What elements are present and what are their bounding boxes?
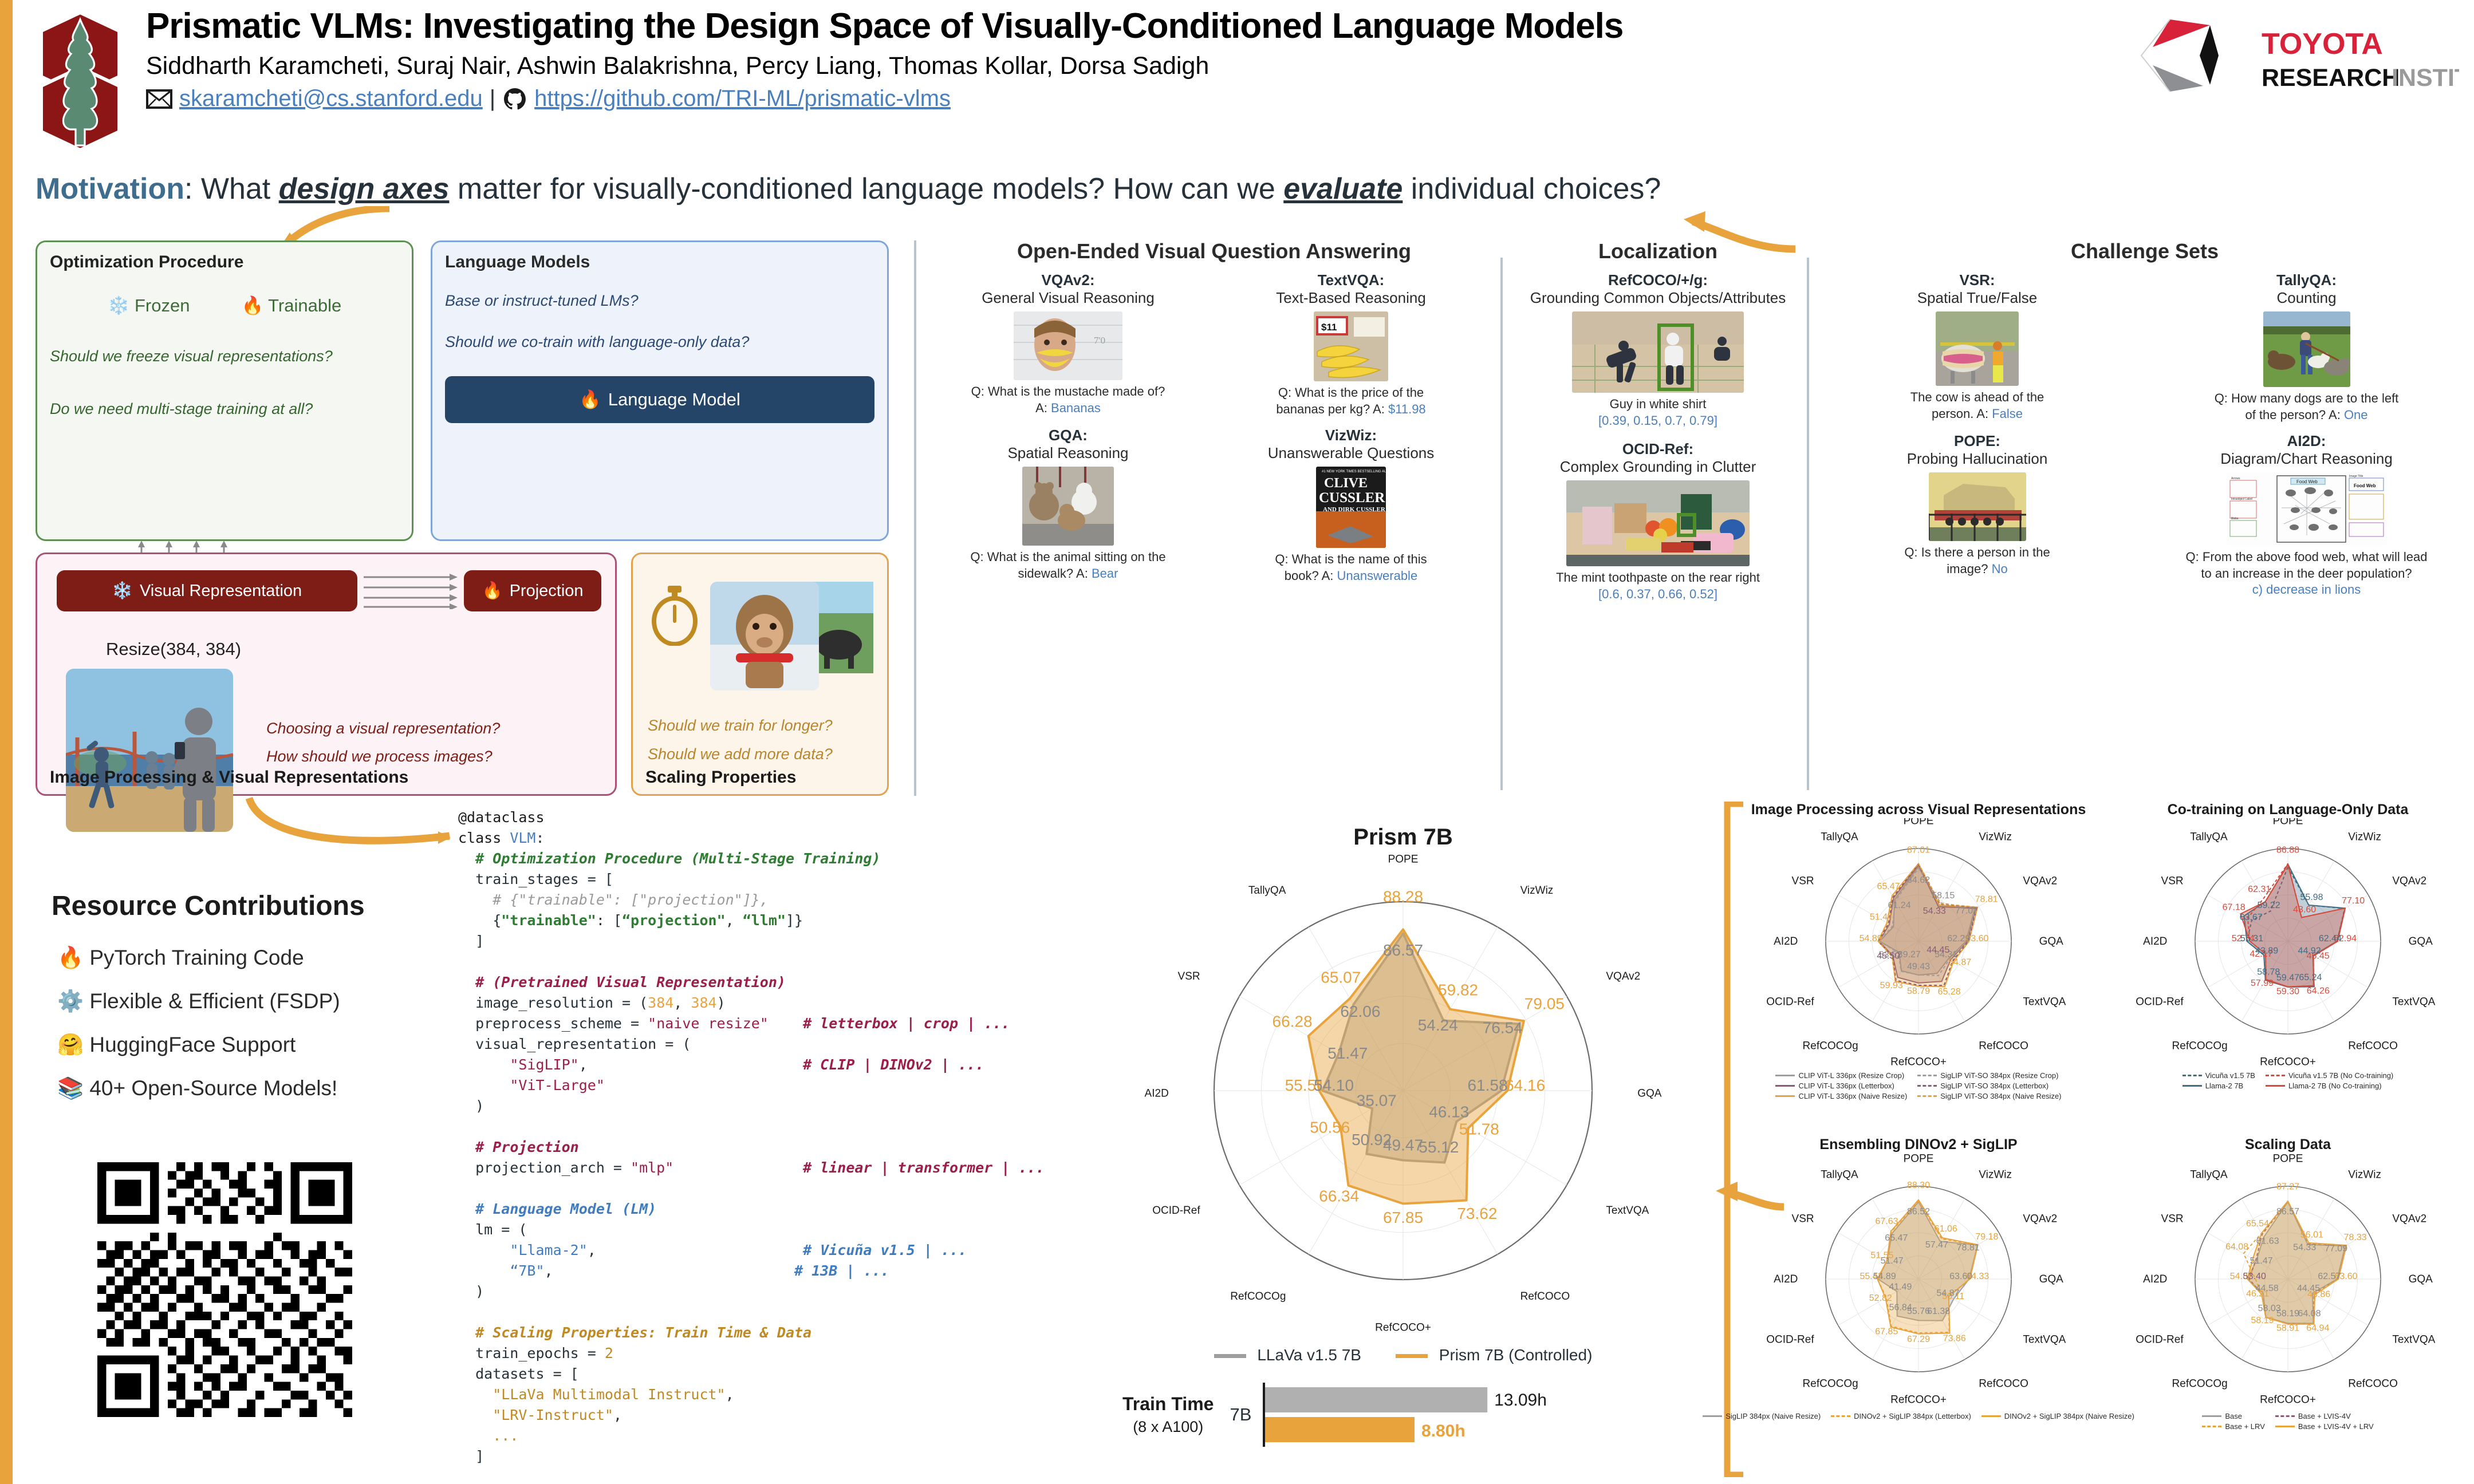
chart-legend: Vicuña v1.5 7B Vicuña v1.5 7B (No Co-tra…	[2107, 1071, 2468, 1090]
fire-icon: 🔥	[241, 295, 263, 315]
svg-text:VizWiz: VizWiz	[1979, 831, 2012, 843]
dataset-card-tallyqa: TallyQA: Counting Q: How many dogs are t…	[2148, 271, 2465, 423]
svg-text:58.03: 58.03	[2258, 1304, 2281, 1313]
question-text-2: bananas per kg? A:	[1276, 402, 1388, 416]
bbox-coords: [0.39, 0.15, 0.7, 0.79]	[1598, 413, 1717, 428]
dataset-name: TextVQA:	[1216, 271, 1486, 289]
mini-chart-co-training: Co-training on Language-Only Data POPEVi…	[2107, 802, 2468, 1134]
dataset-subtitle: Diagram/Chart Reasoning	[2148, 450, 2465, 468]
svg-text:RefCOCO: RefCOCO	[1979, 1378, 2028, 1390]
svg-text:Image Title: Image Title	[2349, 475, 2363, 478]
contact-separator: |	[490, 86, 495, 112]
svg-text:88.30: 88.30	[1907, 1181, 1930, 1190]
dataset-name: OCID-Ref:	[1512, 440, 1804, 458]
tri-institute-text: INSTITUTE	[2392, 64, 2459, 92]
svg-text:TallyQA: TallyQA	[2190, 831, 2228, 843]
email-link[interactable]: skaramcheti@cs.stanford.edu	[179, 86, 483, 112]
poster-header: Prismatic VLMs: Investigating the Design…	[34, 5, 2463, 159]
list-item: ⚙️ Flexible & Efficient (FSDP)	[57, 980, 340, 1023]
legend-label: DINOv2 + SigLIP 384px (Letterbox)	[1854, 1412, 1971, 1420]
legend-item-llava: LLaVa v1.5 7B	[1214, 1346, 1361, 1364]
github-link[interactable]: https://github.com/TRI-ML/prismatic-vlms	[534, 86, 951, 112]
svg-text:VizWiz: VizWiz	[1979, 1169, 2012, 1181]
svg-text:AI2D: AI2D	[1774, 936, 1798, 948]
chart-title: Image Processing across Visual Represent…	[1741, 802, 2096, 818]
visual-to-projection-arrows	[364, 574, 460, 609]
list-item: 🤗 HuggingFace Support	[57, 1023, 340, 1067]
list-item: 📚 40+ Open-Source Models!	[57, 1067, 340, 1110]
svg-text:55.12: 55.12	[1419, 1138, 1459, 1156]
dataset-subtitle: General Visual Reasoning	[933, 289, 1203, 307]
svg-text:RefCOCO: RefCOCO	[1520, 1290, 1570, 1303]
svg-text:POPE: POPE	[1388, 853, 1419, 865]
svg-text:56.01: 56.01	[2300, 1230, 2323, 1240]
svg-text:CUSSLER: CUSSLER	[1319, 490, 1385, 506]
dataset-subtitle: Probing Hallucination	[1818, 450, 2136, 468]
dataset-subtitle: Grounding Common Objects/Attributes	[1512, 289, 1804, 307]
svg-text:VSR: VSR	[2161, 875, 2184, 887]
svg-text:59.93: 59.93	[1880, 981, 1903, 990]
dataset-subtitle: Counting	[2148, 289, 2465, 307]
chart-title: Co-training on Language-Only Data	[2107, 802, 2468, 818]
legend-label: SigLIP ViT-SO 384px (Naive Resize)	[1940, 1092, 2061, 1100]
svg-text:GQA: GQA	[2409, 936, 2433, 948]
email-icon	[146, 89, 172, 109]
svg-text:GQA: GQA	[2409, 1273, 2433, 1285]
svg-text:79.18: 79.18	[1975, 1232, 1998, 1242]
snowflake-icon: ❄️	[108, 295, 130, 315]
chart-title: Prism 7B	[1088, 824, 1718, 850]
svg-text:77.10: 77.10	[2342, 896, 2365, 906]
dataset-name: RefCOCO/+/g:	[1512, 271, 1804, 289]
svg-text:54.33: 54.33	[2293, 1242, 2316, 1252]
question-text-2: image?	[1947, 562, 1991, 576]
svg-text:Food Web: Food Web	[2354, 483, 2376, 488]
fire-icon: 🔥	[579, 389, 601, 410]
question-text-2: book? A:	[1285, 569, 1337, 583]
svg-text:VizWiz: VizWiz	[2348, 831, 2381, 843]
svg-text:TallyQA: TallyQA	[1821, 1169, 1858, 1181]
svg-text:58.15: 58.15	[1932, 891, 1955, 901]
gqa-photo	[1022, 467, 1114, 546]
author-list: Siddharth Karamcheti, Suraj Nair, Ashwin…	[146, 52, 2139, 80]
dataset-name: POPE:	[1818, 432, 2136, 450]
svg-text:RefCOCOg: RefCOCOg	[1230, 1290, 1286, 1303]
question-text: Q: What is the mustache made of?	[971, 384, 1165, 398]
svg-text:67.29: 67.29	[1907, 1335, 1930, 1344]
resource-contributions-list: 🔥 PyTorch Training Code ⚙️ Flexible & Ef…	[57, 936, 340, 1110]
svg-text:AI2D: AI2D	[1774, 1273, 1798, 1285]
svg-text:OCID-Ref: OCID-Ref	[1766, 996, 1814, 1008]
svg-text:CLIVE: CLIVE	[1324, 476, 1368, 491]
vsr-qa: The cow is ahead of the person. A: False	[1818, 389, 2136, 422]
legend-label: SigLIP ViT-SO 384px (Resize Crop)	[1940, 1071, 2058, 1080]
motivation-emphasis-design-axes: design axes	[279, 172, 450, 206]
svg-text:67.85: 67.85	[1383, 1209, 1423, 1226]
motivation-statement: Motivation: What design axes matter for …	[36, 172, 1661, 206]
train-time-subtitle: (8 x A100)	[1133, 1418, 1203, 1435]
tri-toyota-text: TOYOTA	[2262, 27, 2383, 61]
svg-text:8.80h: 8.80h	[1421, 1422, 1466, 1440]
svg-text:84.62: 84.62	[1907, 875, 1930, 885]
svg-text:63.60: 63.60	[1949, 1272, 1972, 1281]
divider-right	[1807, 258, 1809, 790]
resource-label: PyTorch Training Code	[89, 946, 304, 969]
svg-text:55.31: 55.31	[2240, 934, 2263, 944]
train-time-bar-chart: Train Time (8 x A100) 7B 13.09h 8.80h	[1088, 1380, 1718, 1449]
svg-text:RefCOCOg: RefCOCOg	[1803, 1040, 1858, 1052]
svg-text:35.07: 35.07	[1357, 1092, 1397, 1110]
legend-label: Base	[2225, 1412, 2242, 1420]
svg-text:50.92: 50.92	[1352, 1131, 1392, 1148]
hugging-face-icon: 🤗	[57, 1033, 84, 1056]
svg-text:62.57: 62.57	[2318, 1272, 2341, 1281]
train-time-label: Train Time (8 x A100)	[1122, 1393, 1214, 1437]
svg-text:POPE: POPE	[1904, 1153, 1934, 1165]
dataset-card-vizwiz: VizWiz: Unanswerable Questions #1 NEW YO…	[1216, 427, 1486, 584]
svg-text:VQAv2: VQAv2	[2023, 1213, 2057, 1225]
answer-text: Bear	[1092, 566, 1118, 581]
svg-text:58.19: 58.19	[2251, 1316, 2274, 1325]
svg-text:58.79: 58.79	[1907, 986, 1930, 996]
svg-text:64.94: 64.94	[2306, 1324, 2329, 1333]
language-models-box-title: Language Models	[445, 252, 874, 272]
svg-text:86.57: 86.57	[1383, 941, 1423, 959]
legend-label: Vicuña v1.5 7B	[2205, 1071, 2255, 1080]
svg-text:#1 NEW YORK TIMES BESTSELLING: #1 NEW YORK TIMES BESTSELLING AUTHOR	[1322, 470, 1386, 473]
svg-text:79.05: 79.05	[1524, 995, 1565, 1013]
answer-text: c) decrease in lions	[2252, 582, 2361, 597]
answer-text: Unanswerable	[1337, 569, 1418, 583]
projection-block: 🔥 Projection	[464, 570, 601, 611]
legend-label: SigLIP 384px (Naive Resize)	[1726, 1412, 1821, 1420]
svg-text:65.47: 65.47	[1877, 882, 1900, 891]
svg-text:$11: $11	[1321, 322, 1337, 333]
chart-legend: Base Base + LVIS-4V Base + LRV Base + LV…	[2107, 1412, 2468, 1431]
legend-label: SigLIP ViT-SO 384px (Letterbox)	[1940, 1082, 2048, 1090]
optimization-box-title: Optimization Procedure	[50, 252, 399, 272]
svg-text:86.88: 86.88	[2276, 846, 2299, 855]
svg-text:Intraobject Label: Intraobject Label	[2231, 498, 2252, 501]
svg-text:RefCOCO: RefCOCO	[2348, 1378, 2398, 1390]
github-icon	[502, 86, 527, 112]
image-question-2: How should we process images?	[266, 743, 500, 771]
chart-legend: SigLIP 384px (Naive Resize) DINOv2 + Sig…	[1741, 1412, 2096, 1420]
stanford-logo	[34, 10, 126, 153]
svg-text:41.49: 41.49	[1889, 1282, 1912, 1292]
svg-text:Arrows: Arrows	[2231, 477, 2240, 480]
dataset-subtitle: Spatial Reasoning	[933, 444, 1203, 462]
svg-text:VQAv2: VQAv2	[2392, 1213, 2426, 1225]
dataset-name: VizWiz:	[1216, 427, 1486, 444]
svg-text:TextVQA: TextVQA	[2023, 996, 2066, 1008]
optimization-question-1: Should we freeze visual representations?	[50, 345, 399, 369]
referring-expression: Guy in white shirt	[1610, 397, 1707, 411]
legend-item-prism: Prism 7B (Controlled)	[1396, 1346, 1592, 1364]
pope-qa: Q: Is there a person in the image? No	[1818, 544, 2136, 577]
ocidref-qa: The mint toothpaste on the rear right [0…	[1512, 570, 1804, 602]
legend-label: Llama-2 7B	[2205, 1082, 2243, 1090]
svg-text:RefCOCOg: RefCOCOg	[1803, 1378, 1858, 1390]
radar-svg-main: POPEVizWizVQAv2GQATextVQARefCOCORefCOCO+…	[1088, 850, 1718, 1343]
question-text-2: of the person? A:	[2245, 408, 2343, 422]
question-text: Q: Is there a person in the	[1904, 545, 2050, 559]
language-model-block: 🔥 Language Model	[445, 376, 874, 423]
motivation-colon: :	[184, 172, 201, 206]
dataset-subtitle: Spatial True/False	[1818, 289, 2136, 307]
svg-text:45.50: 45.50	[1877, 951, 1900, 961]
svg-text:TextVQA: TextVQA	[1606, 1205, 1649, 1217]
snowflake-icon: ❄️	[112, 581, 133, 601]
legend-label: LLaVa v1.5 7B	[1257, 1346, 1361, 1364]
svg-text:46.13: 46.13	[1429, 1103, 1469, 1120]
question-text: The cow is ahead of the	[1910, 390, 2044, 404]
svg-text:TextVQA: TextVQA	[2392, 1333, 2435, 1345]
dataset-card-pope: POPE: Probing Hallucination Q: Is there …	[1818, 432, 2136, 598]
textvqa-photo: $11	[1314, 311, 1388, 381]
svg-text:65.54: 65.54	[2246, 1219, 2269, 1229]
svg-text:44.45: 44.45	[2297, 1284, 2320, 1293]
list-item: 🔥 PyTorch Training Code	[57, 936, 340, 980]
gqa-qa: Q: What is the animal sitting on the sid…	[933, 549, 1203, 582]
svg-text:58.78: 58.78	[2257, 967, 2280, 977]
projection-label: Projection	[510, 582, 584, 601]
svg-text:54.87: 54.87	[1936, 1289, 1959, 1298]
svg-text:51.47: 51.47	[1327, 1044, 1368, 1062]
svg-text:76.54: 76.54	[1483, 1019, 1523, 1037]
image-processing-box: ❄️ Visual Representation 🔥 Projection Re…	[36, 552, 617, 796]
svg-text:53.40: 53.40	[2243, 1272, 2266, 1281]
svg-text:POPE: POPE	[2273, 1153, 2303, 1165]
svg-text:VizWiz: VizWiz	[2348, 1169, 2381, 1181]
ai2d-photo: Food Web	[2227, 472, 2387, 546]
question-text: Q: From the above food web, what will le…	[2186, 550, 2428, 564]
svg-text:VizWiz: VizWiz	[1520, 885, 1554, 897]
textvqa-qa: Q: What is the price of the bananas per …	[1216, 385, 1486, 417]
motivation-part3: individual choices?	[1403, 172, 1661, 206]
vizwiz-qa: Q: What is the name of this book? A: Una…	[1216, 551, 1486, 584]
answer-text: Bananas	[1051, 401, 1101, 415]
svg-text:VSR: VSR	[1178, 970, 1200, 982]
question-text: Q: How many dogs are to the left	[2215, 391, 2399, 405]
books-icon: 📚	[57, 1076, 84, 1100]
dataset-name: TallyQA:	[2148, 271, 2465, 289]
svg-text:VQAv2: VQAv2	[2023, 875, 2057, 887]
svg-text:RefCOCOg: RefCOCOg	[2172, 1378, 2228, 1390]
vizwiz-photo: #1 NEW YORK TIMES BESTSELLING AUTHOR CLI…	[1316, 467, 1386, 548]
svg-text:73.86: 73.86	[1943, 1334, 1966, 1344]
svg-text:61.06: 61.06	[1935, 1224, 1957, 1234]
svg-text:67.85: 67.85	[1875, 1327, 1898, 1337]
answer-text: No	[1992, 562, 2008, 576]
dataset-card-ocidref: OCID-Ref: Complex Grounding in Clutter T…	[1512, 440, 1804, 602]
dataset-subtitle: Unanswerable Questions	[1216, 444, 1486, 462]
svg-text:78.81: 78.81	[1975, 895, 1998, 905]
tallyqa-photo	[2263, 311, 2350, 387]
svg-text:59.30: 59.30	[2276, 986, 2299, 996]
svg-text:AI2D: AI2D	[1145, 1088, 1169, 1100]
svg-text:56.84: 56.84	[1889, 1303, 1912, 1312]
lm-question-1: Base or instruct-tuned LMs?	[445, 289, 874, 313]
svg-text:OCID-Ref: OCID-Ref	[2136, 1333, 2184, 1345]
svg-text:78.33: 78.33	[2344, 1233, 2367, 1242]
dataset-card-vsr: VSR: Spatial True/False The cow is ahead…	[1818, 271, 2136, 423]
svg-text:OCID-Ref: OCID-Ref	[1766, 1333, 1814, 1345]
refcoco-qa: Guy in white shirt [0.39, 0.15, 0.7, 0.7…	[1512, 396, 1804, 429]
scaling-question-2: Should we add more data?	[648, 740, 833, 769]
dataset-name: GQA:	[933, 427, 1203, 444]
svg-text:61.24: 61.24	[1888, 901, 1911, 910]
svg-text:51.78: 51.78	[1459, 1120, 1499, 1138]
svg-text:78.81: 78.81	[1957, 1243, 1980, 1253]
dataset-name: VSR:	[1818, 271, 2136, 289]
toyota-research-institute-logo: TOYOTA RESEARCH INSTITUTE	[2130, 13, 2459, 98]
divider-center	[1500, 258, 1503, 790]
svg-text:OCID-Ref: OCID-Ref	[2136, 996, 2184, 1008]
svg-text:63.67: 63.67	[2240, 913, 2263, 922]
frozen-tag: ❄️ Frozen	[108, 295, 190, 316]
dataset-subtitle: Complex Grounding in Clutter	[1512, 458, 1804, 476]
mini-chart-scaling-data: Scaling Data POPEVizWizVQAv2GQATextVQARe…	[2107, 1136, 2468, 1471]
svg-text:TallyQA: TallyQA	[1821, 831, 1858, 843]
svg-text:55.98: 55.98	[2300, 893, 2323, 902]
legend-swatch	[1214, 1354, 1246, 1358]
resource-contributions-title: Resource Contributions	[52, 890, 365, 922]
svg-text:59.22: 59.22	[2258, 901, 2280, 910]
svg-text:66.28: 66.28	[1273, 1012, 1313, 1030]
legend-label: Vicuña v1.5 7B (No Co-training)	[2288, 1071, 2393, 1080]
svg-text:RefCOCO+: RefCOCO+	[2260, 1056, 2316, 1068]
localization-section: Localization RefCOCO/+/g: Grounding Comm…	[1512, 239, 1804, 602]
vqav2-qa: Q: What is the mustache made of? A: Bana…	[933, 384, 1203, 416]
visual-representation-label: Visual Representation	[140, 582, 302, 601]
question-text-2: to an increase in the deer population?	[2201, 566, 2412, 581]
section-heading-challenge: Challenge Sets	[1818, 239, 2471, 263]
dataset-card-ai2d: AI2D: Diagram/Chart Reasoning Food Web	[2148, 432, 2465, 598]
optimization-question-2: Do we need multi-stage training at all?	[50, 397, 399, 421]
train-time-title: Train Time	[1122, 1393, 1214, 1415]
svg-text:67.18: 67.18	[2223, 903, 2245, 913]
svg-text:44.58: 44.58	[2256, 1284, 2279, 1293]
legend-label: Base + LVIS-4V	[2298, 1412, 2351, 1420]
svg-text:65.24: 65.24	[2299, 973, 2322, 982]
question-text-2: sidewalk? A:	[1018, 566, 1092, 581]
svg-text:49.43: 49.43	[1907, 962, 1930, 972]
legend-label: Base + LRV	[2225, 1422, 2265, 1431]
tallyqa-qa: Q: How many dogs are to the left of the …	[2148, 390, 2465, 423]
svg-text:OCID-Ref: OCID-Ref	[1152, 1205, 1200, 1217]
svg-text:54.89: 54.89	[1873, 1272, 1896, 1281]
scaling-properties-box: Should we train for longer? Should we ad…	[631, 552, 889, 796]
qr-code[interactable]	[97, 1162, 352, 1417]
svg-text:7'0: 7'0	[1094, 335, 1105, 346]
svg-text:51.47: 51.47	[1881, 1256, 1904, 1266]
page-title: Prismatic VLMs: Investigating the Design…	[146, 6, 2139, 46]
svg-text:59.82: 59.82	[1438, 981, 1478, 999]
svg-text:51.47: 51.47	[2250, 1256, 2273, 1266]
legend-label: Llama-2 7B (No Co-training)	[2288, 1082, 2382, 1090]
svg-text:64.08: 64.08	[2298, 1309, 2321, 1319]
train-time-row-label: 7B	[1230, 1404, 1251, 1425]
svg-text:62.31: 62.31	[2248, 885, 2271, 894]
svg-text:POPE: POPE	[1904, 818, 1934, 827]
radar-svg: POPEVizWizVQAv2GQATextVQARefCOCORefCOCO+…	[2107, 818, 2468, 1070]
resource-label: 40+ Open-Source Models!	[89, 1076, 337, 1100]
radar-svg: POPEVizWizVQAv2GQATextVQARefCOCORefCOCO+…	[1741, 1153, 2096, 1411]
question-text: Q: What is the name of this	[1275, 552, 1427, 566]
svg-text:VSR: VSR	[2161, 1213, 2184, 1225]
mini-chart-image-processing: Image Processing across Visual Represent…	[1741, 802, 2096, 1134]
svg-text:58.91: 58.91	[2276, 1324, 2299, 1333]
scaling-question-1: Should we train for longer?	[648, 712, 833, 740]
svg-text:AI2D: AI2D	[2143, 936, 2167, 948]
pope-photo	[1929, 472, 2026, 541]
image-question-1: Choosing a visual representation?	[266, 715, 500, 743]
question-text-2: person. A:	[1932, 406, 1992, 421]
svg-text:RefCOCO+: RefCOCO+	[1890, 1394, 1947, 1406]
svg-text:43.60: 43.60	[2293, 905, 2316, 915]
radar-svg: POPEVizWizVQAv2GQATextVQARefCOCORefCOCO+…	[1741, 818, 2096, 1070]
radar-svg: POPEVizWizVQAv2GQATextVQARefCOCORefCOCO+…	[2107, 1153, 2468, 1411]
vqav2-photo: 7'0	[1014, 311, 1122, 380]
question-text: Q: What is the animal sitting on the	[970, 550, 1165, 564]
trainable-label: Trainable	[268, 295, 341, 315]
tri-research-text: RESEARCH	[2262, 64, 2400, 92]
svg-text:GQA: GQA	[1637, 1088, 1662, 1100]
dataset-card-refcoco: RefCOCO/+/g: Grounding Common Objects/At…	[1512, 271, 1804, 429]
language-model-label: Language Model	[608, 389, 740, 410]
svg-text:62.06: 62.06	[1340, 1003, 1380, 1020]
open-ended-vqa-section: Open-Ended Visual Question Answering VQA…	[933, 239, 1495, 584]
lm-question-2: Should we co-train with language-only da…	[445, 330, 874, 354]
svg-text:62.29: 62.29	[1947, 934, 1970, 944]
svg-text:57.47: 57.47	[1925, 1240, 1948, 1250]
bbox-coords: [0.6, 0.37, 0.66, 0.52]	[1598, 587, 1717, 601]
svg-text:65.47: 65.47	[1885, 1233, 1908, 1243]
svg-text:GQA: GQA	[2039, 936, 2064, 948]
dataset-card-textvqa: TextVQA: Text-Based Reasoning $11	[1216, 271, 1486, 417]
svg-text:54.24: 54.24	[1418, 1016, 1458, 1034]
svg-text:TextVQA: TextVQA	[2023, 1333, 2066, 1345]
frozen-label: Frozen	[135, 295, 190, 315]
svg-text:TallyQA: TallyQA	[1248, 885, 1286, 897]
image-processing-footer: Image Processing & Visual Representation…	[50, 768, 408, 787]
svg-text:77.07: 77.07	[1955, 906, 1978, 915]
svg-text:Blobs: Blobs	[2231, 517, 2239, 520]
dataset-subtitle: Text-Based Reasoning	[1216, 289, 1486, 307]
arrow-from-axes-to-code	[238, 796, 461, 859]
svg-text:61.38: 61.38	[1927, 1307, 1950, 1316]
motivation-part1: What	[201, 172, 279, 206]
fire-icon: 🔥	[57, 946, 84, 969]
svg-text:73.62: 73.62	[1457, 1205, 1497, 1222]
motivation-emphasis-evaluate: evaluate	[1283, 172, 1403, 206]
stopwatch-icon	[649, 586, 700, 646]
svg-text:VQAv2: VQAv2	[2392, 875, 2426, 887]
question-text: Q: What is the price of the	[1278, 385, 1424, 400]
answer-text: False	[1992, 406, 2023, 421]
svg-text:RefCOCO: RefCOCO	[1979, 1040, 2028, 1052]
svg-text:77.09: 77.09	[2325, 1244, 2347, 1253]
svg-text:VSR: VSR	[1792, 1213, 1814, 1225]
ocidref-photo	[1566, 480, 1750, 566]
svg-text:64.08: 64.08	[2225, 1242, 2248, 1252]
resource-label: HuggingFace Support	[89, 1033, 296, 1056]
language-models-box: Language Models Base or instruct-tuned L…	[431, 240, 889, 541]
section-heading-localization: Localization	[1512, 239, 1804, 263]
svg-text:AND DIRK CUSSLER: AND DIRK CUSSLER	[1323, 506, 1386, 513]
svg-text:51.47: 51.47	[1870, 912, 1893, 922]
